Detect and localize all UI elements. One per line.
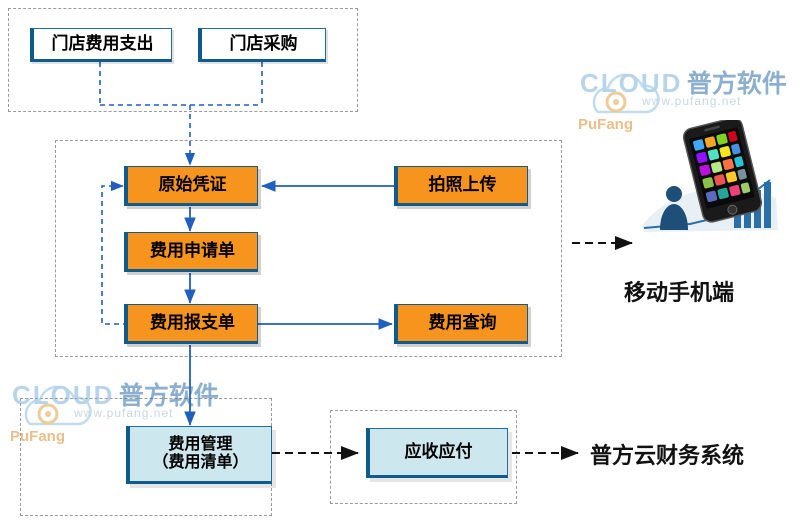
node-expense-query[interactable]: 费用查询	[394, 304, 528, 344]
node-receivable-payable[interactable]: 应收应付	[366, 428, 508, 478]
label-mobile: 移动手机端	[624, 275, 734, 307]
node-expense-application[interactable]: 费用申请单	[124, 232, 258, 272]
mobile-phone-illustration	[630, 120, 795, 250]
node-store-expense[interactable]: 门店费用支出	[30, 28, 172, 62]
node-store-purchase[interactable]: 门店采购	[198, 28, 326, 62]
node-original-voucher[interactable]: 原始凭证	[124, 166, 258, 206]
node-expense-reimbursement[interactable]: 费用报支单	[124, 304, 258, 344]
node-photo-upload[interactable]: 拍照上传	[394, 166, 528, 206]
node-expense-management[interactable]: 费用管理 （费用清单）	[126, 426, 272, 484]
label-finance-system: 普方云财务系统	[590, 438, 744, 470]
diagram-canvas: 门店费用支出 门店采购 原始凭证 费用申请单 费用报支单 拍照上传 费用查询 费…	[0, 0, 800, 524]
